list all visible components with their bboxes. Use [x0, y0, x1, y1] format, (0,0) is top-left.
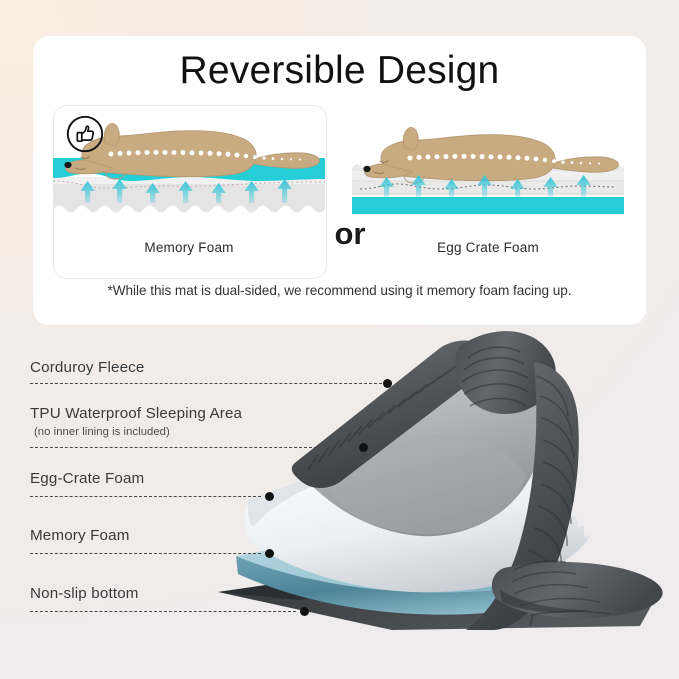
thumbs-up-icon [66, 115, 104, 153]
callout-dot [383, 379, 392, 388]
callout-label: TPU Waterproof Sleeping Area [30, 405, 242, 422]
callout-leader-line [30, 496, 261, 497]
divider-or-text: or [329, 216, 371, 252]
egg-crate-foam-diagram-svg [352, 105, 624, 238]
callout-sublabel: (no inner lining is included) [34, 426, 170, 438]
footnote-text: *While this mat is dual-sided, we recomm… [33, 283, 646, 298]
callout-label: Corduroy Fleece [30, 359, 145, 376]
product-infographic: Reversible Design [0, 0, 679, 679]
callout-leader-line [30, 611, 296, 612]
callout-dot [265, 549, 274, 558]
callout-label: Non-slip bottom [30, 585, 139, 602]
panel-caption-memory-foam: Memory Foam [53, 240, 325, 255]
reversible-design-card: Reversible Design [33, 36, 646, 325]
callout-leader-line [30, 447, 317, 448]
egg-crate-foam-illustration [352, 105, 624, 238]
panel-memory-foam: Memory Foam [53, 105, 325, 277]
egg-crate-cyan-layer [352, 197, 624, 214]
page-title: Reversible Design [33, 49, 646, 93]
corduroy-bottom-flap [492, 562, 663, 618]
callout-leader-line [30, 383, 387, 384]
callout-label: Memory Foam [30, 527, 130, 544]
callout-leader-line [30, 553, 261, 554]
callout-label: Egg-Crate Foam [30, 470, 144, 487]
callout-dot [300, 607, 309, 616]
callout-dot [265, 492, 274, 501]
panel-egg-crate-foam: Egg Crate Foam [352, 105, 624, 277]
layer-breakdown-diagram: Corduroy Fleece TPU Waterproof Sleeping … [0, 330, 679, 679]
callout-dot [359, 443, 368, 452]
panel-caption-egg-crate-foam: Egg Crate Foam [352, 240, 624, 255]
memory-foam-illustration [53, 105, 325, 238]
